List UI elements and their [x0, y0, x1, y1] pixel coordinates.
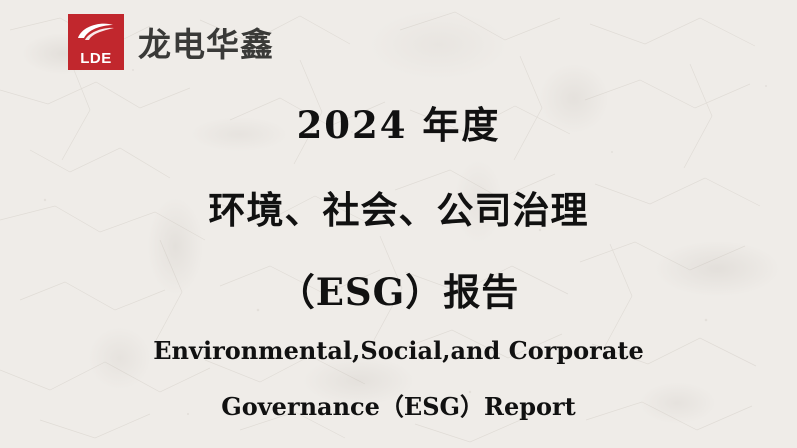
title-line-3: （ESG）报告	[0, 262, 797, 316]
title-line-2: 环境、社会、公司治理	[0, 180, 797, 234]
subtitle-line-2: Governance（ESG）Report	[0, 387, 797, 422]
company-logo: LDE 龙电华鑫	[68, 14, 274, 70]
title-line-1: 2024 年度	[0, 95, 797, 149]
company-name: 龙电华鑫	[138, 18, 274, 66]
subtitle-line-1: Environmental,Social,and Corporate	[0, 336, 797, 365]
logo-mark-text: LDE	[80, 51, 112, 67]
report-cover-page: LDE 龙电华鑫 2024 年度 环境、社会、公司治理 （ESG）报告 Envi…	[0, 0, 797, 448]
logo-mark: LDE	[68, 14, 124, 70]
swoosh-icon	[75, 21, 117, 43]
